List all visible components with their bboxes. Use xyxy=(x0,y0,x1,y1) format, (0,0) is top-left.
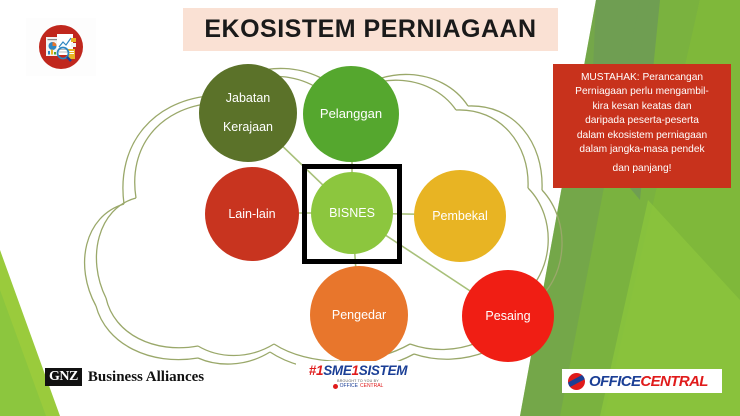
hashtag-text: #1SME1SISTEM xyxy=(309,363,407,378)
node-pelanggan[interactable]: Pelanggan xyxy=(303,66,399,162)
node-lain-lain[interactable]: Lain-lain xyxy=(205,167,299,261)
mustahak-callout: MUSTAHAK: Perancangan Perniagaan perlu m… xyxy=(553,64,731,188)
hashtag-1sme1sistem-logo: #1SME1SISTEM BROUGHT TO YOU BY OFFICECEN… xyxy=(296,361,420,391)
node-label: JabatanKerajaan xyxy=(215,91,281,135)
node-label: Pesaing xyxy=(481,309,534,324)
node-label: Lain-lain xyxy=(224,207,279,222)
office-central-text: OFFICECENTRAL xyxy=(589,373,708,390)
oc-office: OFFICE xyxy=(589,373,640,390)
node-label: Pembekal xyxy=(428,209,492,224)
hashtag-sme: SME xyxy=(323,363,351,378)
hashtag-one: 1 xyxy=(352,363,359,378)
office-central-logo: OFFICECENTRAL xyxy=(562,369,722,393)
node-pesaing[interactable]: Pesaing xyxy=(462,270,554,362)
gnz-mark: GNZ xyxy=(45,368,82,386)
office-central-ball-icon xyxy=(568,373,585,390)
gnz-business-alliances-logo: GNZ Business Alliances xyxy=(45,368,204,386)
node-label: Pengedar xyxy=(328,308,390,323)
hashtag-brand-blue: OFFICE xyxy=(340,383,358,389)
callout-line-6: dalam jangka-masa pendek xyxy=(559,143,725,157)
callout-line-5: dalam ekosistem perniagaan xyxy=(559,129,725,143)
callout-line-4: daripada peserta-peserta xyxy=(559,114,725,128)
callout-line-1: MUSTAHAK: Perancangan xyxy=(559,71,725,85)
hashtag-brand-red: CENTRAL xyxy=(360,383,383,389)
business-analysis-icon xyxy=(26,18,96,76)
node-pengedar[interactable]: Pengedar xyxy=(310,266,408,364)
hashtag-sistem: SISTEM xyxy=(359,363,407,378)
hashtag-brand: OFFICECENTRAL xyxy=(333,383,384,389)
node-jabatan-kerajaan[interactable]: JabatanKerajaan xyxy=(199,64,297,162)
hashtag-hash: #1 xyxy=(309,363,323,378)
analysis-icon-glyph xyxy=(35,21,87,73)
node-label: Pelanggan xyxy=(316,106,386,121)
brand-dot-icon xyxy=(333,384,338,389)
gnz-label: Business Alliances xyxy=(88,369,204,386)
callout-line-2: Perniagaan perlu mengambil- xyxy=(559,85,725,99)
callout-line-3: kira kesan keatas dan xyxy=(559,100,725,114)
callout-line-7: dan panjang! xyxy=(559,162,725,176)
slide-canvas: EKOSISTEM PERNIAGAAN JabatanKeraj xyxy=(0,0,740,416)
oc-central: CENTRAL xyxy=(640,373,707,390)
page-title: EKOSISTEM PERNIAGAAN xyxy=(204,15,536,44)
node-pembekal[interactable]: Pembekal xyxy=(414,170,506,262)
slide-title-banner: EKOSISTEM PERNIAGAAN xyxy=(183,8,558,51)
bisnes-highlight-box xyxy=(302,164,402,264)
